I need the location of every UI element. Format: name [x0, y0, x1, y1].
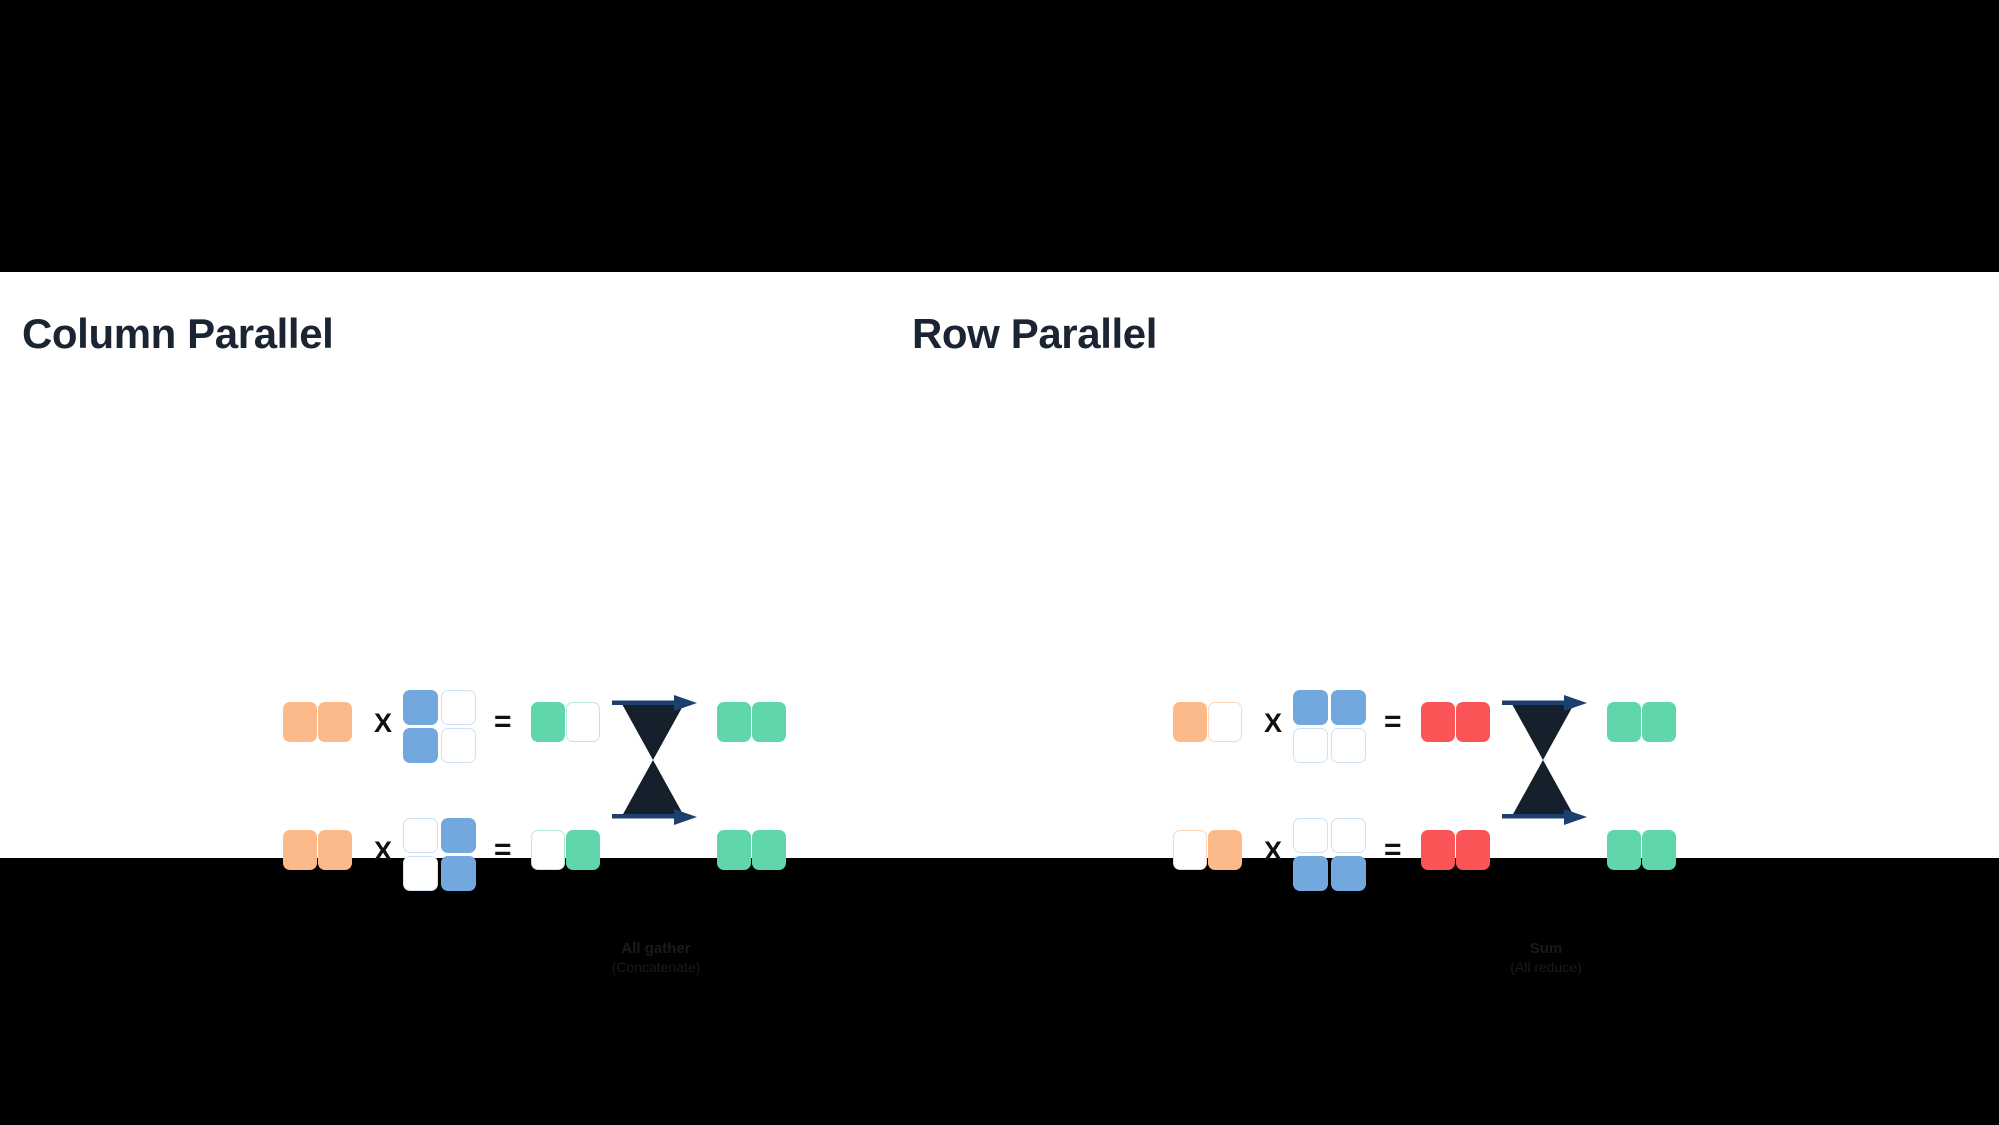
tile-result-1 [566, 830, 600, 870]
comm-label-main: All gather [546, 940, 766, 959]
tile-result-1 [566, 702, 600, 742]
all-gather-label: All gather (Concatenate) [546, 940, 766, 976]
tile-weight-r0c0 [1293, 690, 1328, 725]
bottom-arrow-head [674, 809, 697, 825]
all-reduce-arrow-graphic [1502, 690, 1592, 835]
tile-weight-r0c0 [403, 818, 438, 853]
hourglass-lower-triangle [1512, 760, 1574, 816]
tile-input-0 [1173, 830, 1207, 870]
comm-label-main: Sum [1436, 940, 1656, 959]
top-arrow-head [674, 695, 697, 711]
tile-weight-r1c0 [1293, 856, 1328, 891]
all-gather-arrow-graphic [612, 690, 702, 835]
page-title-column-parallel: Column Parallel [22, 310, 333, 358]
tile-output-1 [1642, 830, 1676, 870]
operator-multiply: X [1264, 838, 1282, 865]
hourglass-upper-triangle [1512, 704, 1574, 760]
tile-weight-r0c1 [1331, 690, 1366, 725]
tile-input-1 [318, 702, 352, 742]
tile-weight-r0c1 [1331, 818, 1366, 853]
tile-output-1 [1642, 702, 1676, 742]
top-arrow-shaft [612, 701, 678, 706]
tile-output-1 [752, 830, 786, 870]
bottom-arrow-shaft [1502, 814, 1568, 819]
tile-weight-r1c1 [1331, 728, 1366, 763]
tile-weight-r0c1 [441, 690, 476, 725]
operator-equals: = [494, 835, 512, 865]
tile-input-1 [1208, 702, 1242, 742]
tile-result-0 [1421, 702, 1455, 742]
tile-input-1 [1208, 830, 1242, 870]
panel-column-parallel: Column Parallel X = [0, 272, 900, 858]
panel-row-parallel: Row Parallel X = [890, 272, 1790, 858]
tile-input-0 [1173, 702, 1207, 742]
tile-input-0 [283, 830, 317, 870]
tile-weight-r1c1 [441, 728, 476, 763]
operator-equals: = [494, 707, 512, 737]
tile-weight-r1c0 [403, 856, 438, 891]
tile-result-1 [1456, 830, 1490, 870]
all-reduce-label: Sum (All reduce) [1436, 940, 1656, 976]
operator-multiply: X [374, 710, 392, 737]
tile-weight-r1c0 [403, 728, 438, 763]
tile-weight-r0c0 [1293, 818, 1328, 853]
tile-output-0 [1607, 702, 1641, 742]
tile-result-0 [531, 830, 565, 870]
comm-label-sub: (All reduce) [1436, 959, 1656, 977]
operator-multiply: X [374, 838, 392, 865]
tile-weight-r0c0 [403, 690, 438, 725]
tile-weight-r1c1 [441, 856, 476, 891]
tile-result-0 [1421, 830, 1455, 870]
tile-output-1 [752, 702, 786, 742]
tile-output-0 [1607, 830, 1641, 870]
bottom-arrow-head [1564, 809, 1587, 825]
operator-equals: = [1384, 707, 1402, 737]
tile-result-0 [531, 702, 565, 742]
tile-input-1 [318, 830, 352, 870]
tile-weight-r1c0 [1293, 728, 1328, 763]
page-title-row-parallel: Row Parallel [912, 310, 1157, 358]
top-arrow-shaft [1502, 701, 1568, 706]
tile-output-0 [717, 702, 751, 742]
slide-stage: Column Parallel X = [0, 0, 1999, 1125]
operator-multiply: X [1264, 710, 1282, 737]
top-arrow-head [1564, 695, 1587, 711]
operator-equals: = [1384, 835, 1402, 865]
hourglass-lower-triangle [622, 760, 684, 816]
hourglass-upper-triangle [622, 704, 684, 760]
tile-result-1 [1456, 702, 1490, 742]
bottom-arrow-shaft [612, 814, 678, 819]
slide-canvas: Column Parallel X = [0, 272, 1999, 858]
tile-weight-r1c1 [1331, 856, 1366, 891]
tile-weight-r0c1 [441, 818, 476, 853]
comm-label-sub: (Concatenate) [546, 959, 766, 977]
tile-input-0 [283, 702, 317, 742]
tile-output-0 [717, 830, 751, 870]
